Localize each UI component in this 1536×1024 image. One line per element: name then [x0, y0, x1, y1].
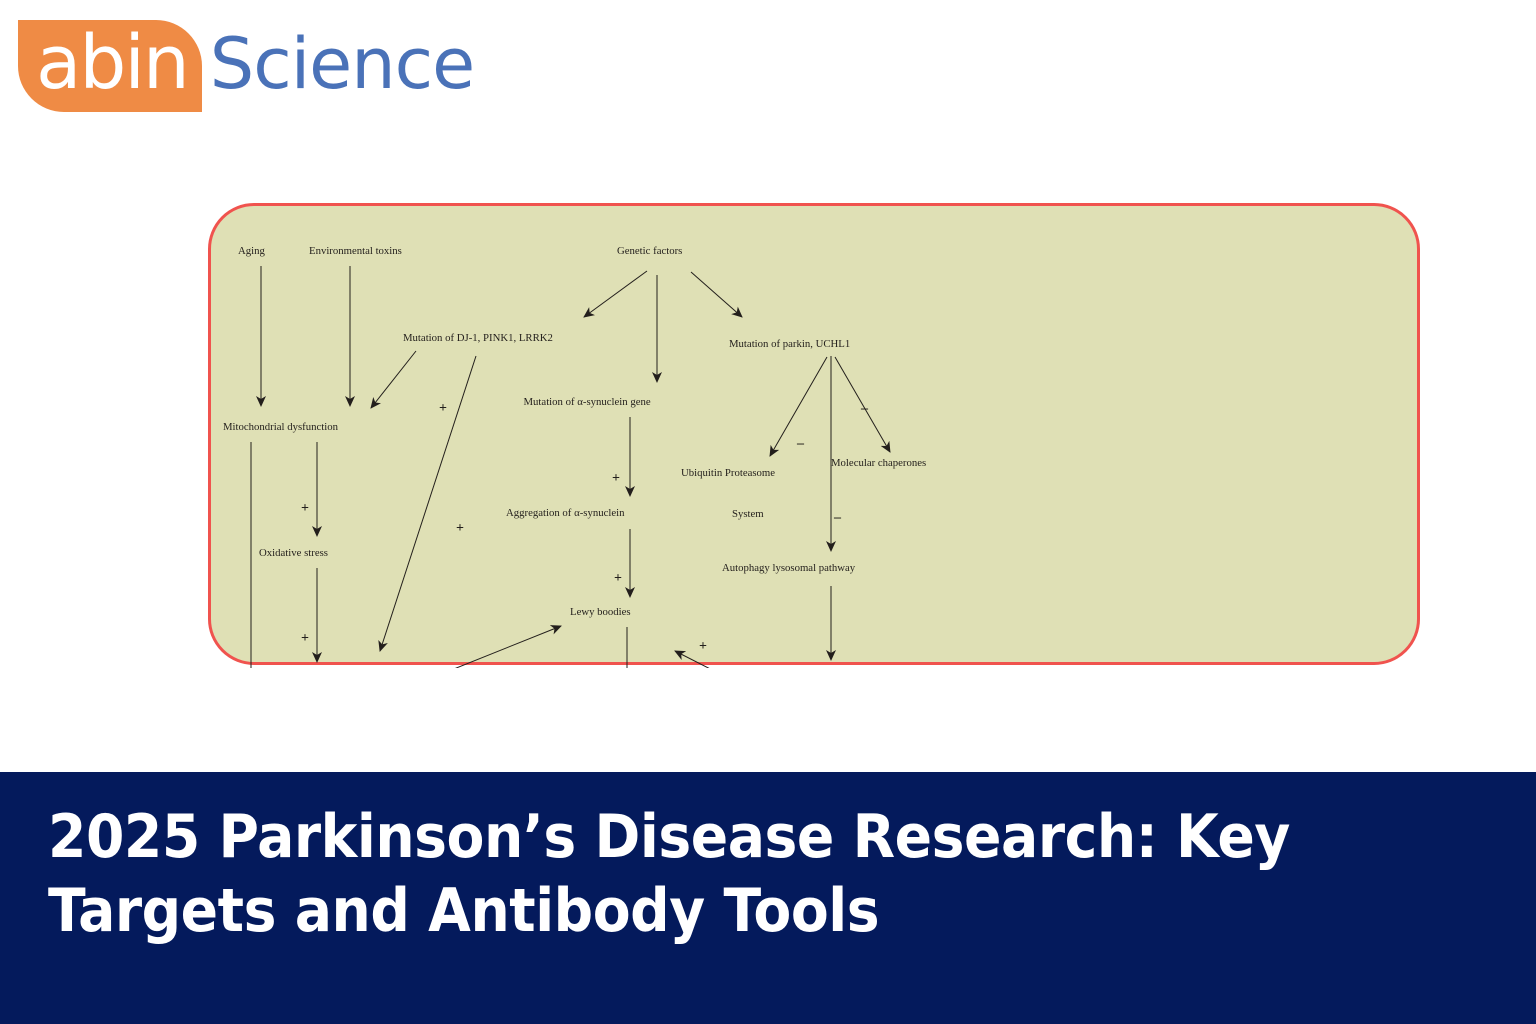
edge-djpink-mito	[371, 351, 416, 408]
node-autophagy-lysosomal-pathway: Autophagy lysosomal pathway	[722, 562, 856, 574]
pathway-diagram-canvas: Aging Environmental toxins Genetic facto…	[211, 206, 1423, 668]
sign-plus-djpink-tau: +	[456, 521, 464, 536]
sign-plus-oxidative-tau: +	[301, 631, 309, 646]
node-mutation-dj1-pink1-lrrk2: Mutation of DJ-1, PINK1, LRRK2	[403, 332, 553, 344]
logo-wordmark-text: Science	[210, 28, 474, 100]
node-mutation-asynuclein-gene: Mutation of α-synuclein gene	[524, 396, 651, 408]
edge-genetic-parkin	[691, 272, 742, 317]
logo-mark-text: abin	[36, 24, 188, 102]
node-mitochondrial-dysfunction: Mitochondrial dysfunction	[223, 421, 339, 433]
node-oxidative-stress: Oxidative stress	[259, 547, 328, 559]
pathway-diagram: Aging Environmental toxins Genetic facto…	[208, 203, 1420, 665]
site-logo[interactable]: abin Science	[18, 18, 474, 114]
sign-plus-aggregation-lewy: +	[614, 571, 622, 586]
sign-plus-djpink-mito: +	[439, 401, 447, 416]
sign-plus-asyngene-aggregation: +	[612, 471, 620, 486]
diagram-node-labels: Aging Environmental toxins Genetic facto…	[214, 245, 926, 668]
node-ubiquitin-proteasome-line1: Ubiquitin Proteasome	[681, 467, 775, 479]
node-genetic-factors: Genetic factors	[617, 245, 682, 257]
edge-genetic-djpink	[584, 271, 647, 317]
node-ubiquitin-proteasome-line2: System	[732, 508, 764, 520]
title-banner: 2025 Parkinson’s Disease Research: Key T…	[0, 772, 1536, 1024]
edge-djpink-tau	[380, 356, 476, 651]
banner-title-text: 2025 Parkinson’s Disease Research: Key T…	[48, 800, 1391, 948]
node-aging: Aging	[238, 245, 266, 257]
node-mutation-parkin-uchl1: Mutation of parkin, UCHL1	[729, 338, 850, 350]
node-aggregation-asynuclein: Aggregation of α-synuclein	[506, 507, 625, 519]
sign-minus-parkin-autophagy: –	[833, 510, 842, 525]
node-molecular-chaperones: Molecular chaperones	[831, 457, 926, 469]
node-lewy-bodies: Lewy boodies	[570, 606, 631, 618]
logo-mark-badge: abin	[18, 20, 202, 112]
node-environmental-toxins: Environmental toxins	[309, 245, 402, 257]
sign-plus-mito-oxidative: +	[301, 501, 309, 516]
edge-tau-lewy	[409, 626, 561, 668]
sign-plus-impair-lewy: +	[699, 639, 707, 654]
sign-minus-parkin-chaperones: –	[860, 401, 869, 416]
sign-minus-parkin-ups: –	[796, 436, 805, 451]
